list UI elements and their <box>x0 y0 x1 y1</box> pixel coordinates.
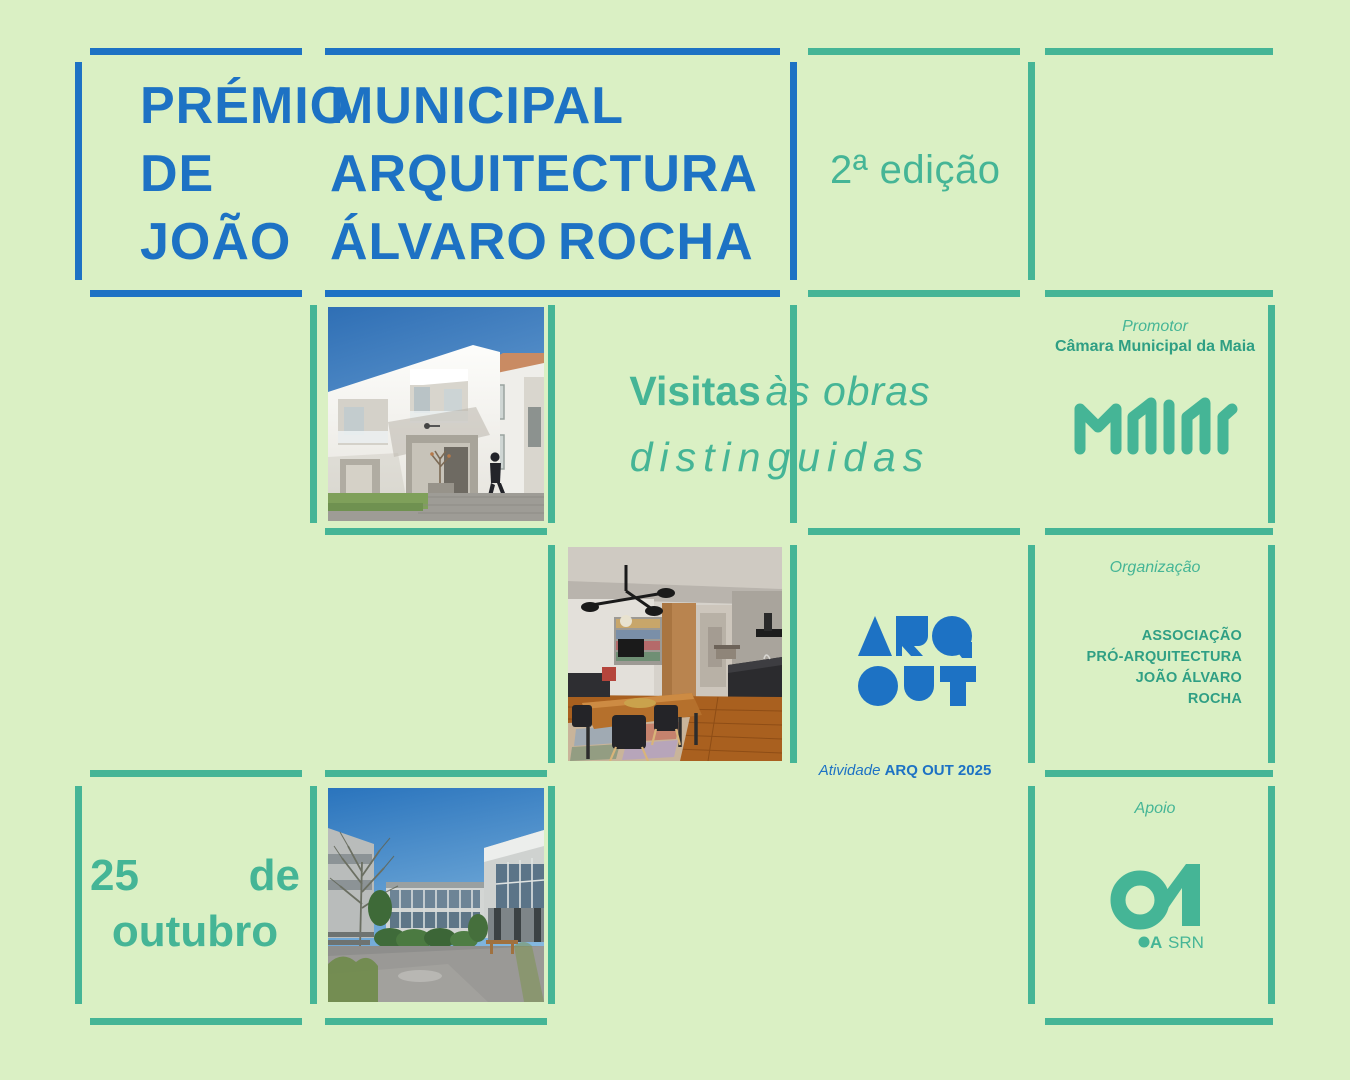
rule-top-3 <box>808 48 1020 55</box>
rule-mid-2 <box>808 528 1020 535</box>
org-line-3: JOÃO ÁLVARO <box>1020 668 1242 689</box>
photo-obra-casa <box>328 307 544 521</box>
title-word-rocha: ROCHA <box>558 208 754 276</box>
event-date: 25 de outubro <box>90 848 300 960</box>
svg-text:A: A <box>1150 933 1162 952</box>
title-line-1: PRÉMIO MUNICIPAL <box>140 72 760 140</box>
rule-bottom-2 <box>325 770 547 777</box>
subtitle-as-obras: às obras <box>765 368 930 414</box>
rule-photo3-right <box>548 786 555 1004</box>
rule-foot-1 <box>90 1018 302 1025</box>
atividade-label: Atividade <box>819 762 881 779</box>
page-title: PRÉMIO MUNICIPAL DE ARQUITECTURA JOÃO ÁL… <box>140 72 760 282</box>
rule-edition-bottom <box>808 290 1020 297</box>
promotor-label: Promotor <box>1040 318 1270 336</box>
subtitle-visitas: Visitas <box>629 368 760 414</box>
rule-mid-1 <box>325 528 547 535</box>
atividade-value: ARQ OUT 2025 <box>885 762 992 779</box>
photo-obra-interior <box>568 547 782 761</box>
title-line-2: DE ARQUITECTURA <box>140 140 760 208</box>
maia-logo <box>1073 393 1239 455</box>
date-row-1: 25 de <box>90 848 300 904</box>
rule-photo1-right <box>548 305 555 523</box>
rule-top-4 <box>1045 48 1273 55</box>
rule-top-right-bottom <box>1045 290 1273 297</box>
photo-obra-escola <box>328 788 544 1002</box>
rule-title-left <box>75 62 82 280</box>
org-line-4: ROCHA <box>1020 689 1242 710</box>
rule-foot-3 <box>1045 1018 1273 1025</box>
title-word-premio: PRÉMIO <box>140 72 330 140</box>
subtitle-distinguidas: distinguidas <box>560 429 1000 485</box>
atividade-caption: Atividade ARQ OUT 2025 <box>780 762 1030 779</box>
arq-out-logo <box>858 612 976 710</box>
promotor-name: Câmara Municipal da Maia <box>1040 338 1270 356</box>
rule-photo2-left <box>548 545 555 763</box>
title-word-alvaro: ÁLVARO <box>330 208 558 276</box>
edition-label: 2ª edição <box>830 148 1001 193</box>
title-word-de: DE <box>140 140 330 208</box>
org-line-2: PRÓ-ARQUITECTURA <box>1020 647 1242 668</box>
rule-foot-2 <box>325 1018 547 1025</box>
svg-text:SRN: SRN <box>1168 933 1204 952</box>
rule-date-left <box>75 786 82 1004</box>
date-de: de <box>249 848 300 904</box>
rule-mid-3 <box>1045 528 1273 535</box>
rule-date-right <box>310 786 317 1004</box>
rule-bottom-3 <box>1045 770 1273 777</box>
rule-title-bottom-1 <box>90 290 302 297</box>
rule-photo1-left <box>310 305 317 523</box>
title-word-joao: JOÃO <box>140 208 330 276</box>
date-month: outubro <box>90 904 300 960</box>
title-word-municipal: MUNICIPAL <box>330 72 760 140</box>
rule-bottom-1 <box>90 770 302 777</box>
apoio-label: Apoio <box>1040 800 1270 818</box>
org-line-1: ASSOCIAÇÃO <box>1020 626 1242 647</box>
rule-top-2 <box>325 48 780 55</box>
rule-apoio-right <box>1268 786 1275 1004</box>
rule-title-bottom-2 <box>325 290 780 297</box>
title-line-3: JOÃO ÁLVARO ROCHA <box>140 208 760 276</box>
rule-top-1 <box>90 48 302 55</box>
subtitle-block: Visitas às obras distinguidas <box>560 363 1000 485</box>
rule-apoio-left <box>1028 786 1035 1004</box>
title-word-arquitectura: ARQUITECTURA <box>330 140 760 208</box>
organizacao-name: ASSOCIAÇÃO PRÓ-ARQUITECTURA JOÃO ÁLVARO … <box>1020 626 1270 710</box>
rule-photo2-right <box>790 545 797 763</box>
rule-title-right <box>790 62 797 280</box>
oa-srn-logo: A SRN <box>1108 852 1228 952</box>
poster-canvas: PRÉMIO MUNICIPAL DE ARQUITECTURA JOÃO ÁL… <box>0 0 1350 1080</box>
rule-edition-right <box>1028 62 1035 280</box>
date-day: 25 <box>90 848 139 904</box>
organizacao-label: Organização <box>1040 559 1270 577</box>
